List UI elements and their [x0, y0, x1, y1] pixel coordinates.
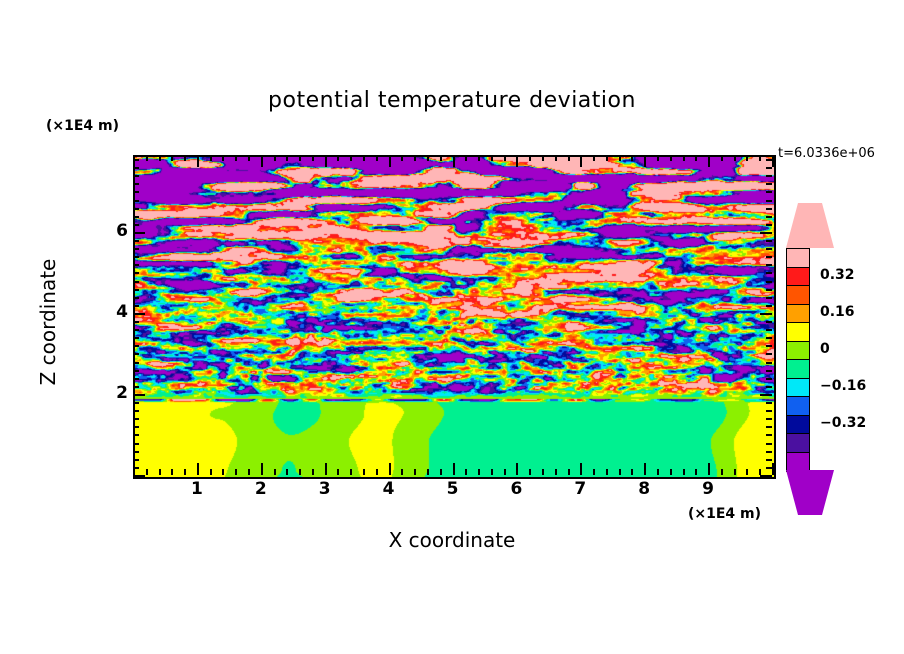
colorbar[interactable]: 0.320.160−0.16−0.32: [786, 203, 812, 515]
colorbar-band: [786, 304, 810, 324]
z-axis-title: Z coordinate: [36, 212, 60, 432]
colorbar-tick-label: 0.16: [820, 304, 855, 320]
colorbar-tick-label: 0.32: [820, 267, 855, 283]
x-tick-label: 5: [438, 479, 468, 499]
colorbar-tick-label: −0.32: [820, 415, 866, 431]
colorbar-band: [786, 285, 810, 305]
colorbar-extend-bottom: [786, 470, 834, 515]
x-tick-label: 8: [629, 479, 659, 499]
colorbar-band: [786, 248, 810, 268]
x-tick-label: 1: [182, 479, 212, 499]
x-axis-title: X coordinate: [0, 528, 904, 552]
colorbar-band: [786, 267, 810, 287]
x-tick-label: 2: [246, 479, 276, 499]
colorbar-band: [786, 396, 810, 416]
z-tick-label: 6: [98, 221, 128, 241]
x-axis-unit-label: (×1E4 m): [688, 506, 761, 522]
colorbar-tick-label: 0: [820, 341, 830, 357]
x-tick-label: 4: [374, 479, 404, 499]
colorbar-tick-label: −0.16: [820, 378, 866, 394]
colorbar-band: [786, 341, 810, 361]
colorbar-band: [786, 359, 810, 379]
z-tick-label: 4: [98, 302, 128, 322]
colorbar-band: [786, 433, 810, 453]
x-tick-label: 9: [693, 479, 723, 499]
colorbar-band: [786, 452, 810, 472]
colorbar-band: [786, 322, 810, 342]
colorbar-band: [786, 415, 810, 435]
x-tick-label: 7: [565, 479, 595, 499]
x-tick-label: 3: [310, 479, 340, 499]
axis-tick-labels: 123456789246: [0, 0, 904, 654]
colorbar-extend-top: [786, 203, 834, 248]
colorbar-band: [786, 378, 810, 398]
z-tick-label: 2: [98, 383, 128, 403]
x-tick-label: 6: [501, 479, 531, 499]
